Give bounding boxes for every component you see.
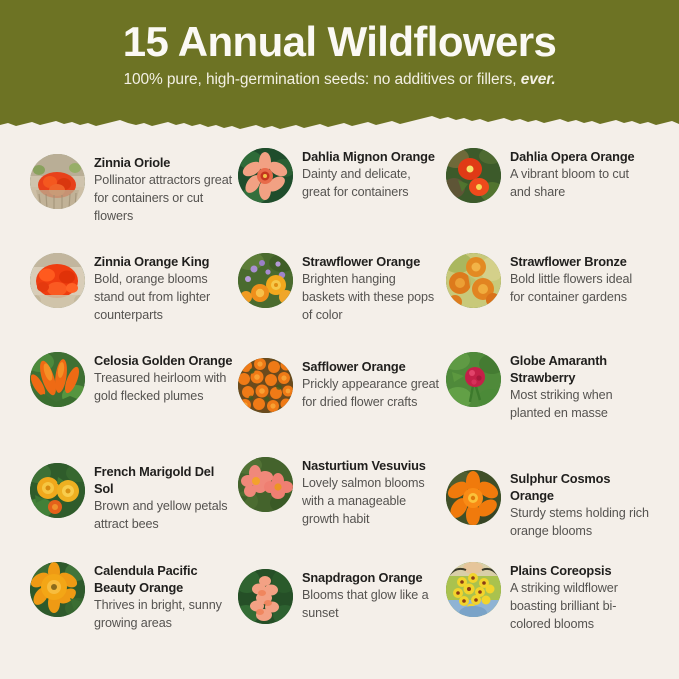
subtitle-main-text: 100% pure, high-germination seeds: no ad… — [123, 71, 520, 88]
dahlia-mignon-orange-thumbnail — [238, 148, 293, 203]
item-title: Dahlia Mignon Orange — [302, 149, 441, 166]
grid-cell: Snapdragon Orange Blooms that glow like … — [238, 562, 441, 657]
flower-grid: Zinnia Oriole Pollinator attractors grea… — [0, 148, 679, 657]
list-item[interactable]: Zinnia Oriole Pollinator attractors grea… — [30, 154, 233, 226]
list-item[interactable]: French Marigold Del Sol Brown and yellow… — [30, 463, 233, 534]
item-title: Nasturtium Vesuvius — [302, 458, 441, 475]
list-item[interactable]: Safflower Orange Prickly appearance grea… — [238, 358, 441, 413]
grid-cell: Plains Coreopsis A striking wildflower b… — [446, 562, 649, 657]
grid-cell: Zinnia Oriole Pollinator attractors grea… — [30, 148, 233, 253]
item-title: Plains Coreopsis — [510, 563, 649, 580]
zinnia-orange-king-thumbnail — [30, 253, 85, 308]
item-text: Snapdragon Orange Blooms that glow like … — [302, 569, 441, 623]
grid-cell: Celosia Golden Orange Treasured heirloom… — [30, 352, 233, 457]
item-text: Dahlia Opera Orange A vibrant bloom to c… — [510, 148, 649, 202]
item-description: Brown and yellow petals attract bees — [94, 498, 233, 534]
item-title: Zinnia Oriole — [94, 155, 233, 172]
item-text: Dahlia Mignon Orange Dainty and delicate… — [302, 148, 441, 202]
item-title: Globe Amaranth Strawberry — [510, 353, 649, 387]
item-text: Globe Amaranth Strawberry Most striking … — [510, 352, 649, 423]
list-item[interactable]: Globe Amaranth Strawberry Most striking … — [446, 352, 649, 423]
item-title: Dahlia Opera Orange — [510, 149, 649, 166]
plains-coreopsis-thumbnail — [446, 562, 501, 617]
list-item[interactable]: Dahlia Mignon Orange Dainty and delicate… — [238, 148, 441, 203]
grid-row: French Marigold Del Sol Brown and yellow… — [0, 457, 679, 562]
item-text: Celosia Golden Orange Treasured heirloom… — [94, 352, 233, 406]
item-description: Prickly appearance great for dried flowe… — [302, 376, 441, 412]
item-title: Celosia Golden Orange — [94, 353, 233, 370]
item-text: Nasturtium Vesuvius Lovely salmon blooms… — [302, 457, 441, 529]
item-description: Bold little flowers ideal for container … — [510, 271, 649, 307]
page-title: 15 Annual Wildflowers — [0, 20, 679, 64]
strawflower-orange-thumbnail — [238, 253, 293, 308]
item-title: French Marigold Del Sol — [94, 464, 233, 498]
item-description: Thrives in bright, sunny growing areas — [94, 597, 233, 633]
globe-amaranth-strawberry-thumbnail — [446, 352, 501, 407]
item-description: Bold, orange blooms stand out from light… — [94, 271, 233, 325]
item-description: Blooms that glow like a sunset — [302, 587, 441, 623]
list-item[interactable]: Zinnia Orange King Bold, orange blooms s… — [30, 253, 233, 325]
item-title: Calendula Pacific Beauty Orange — [94, 563, 233, 597]
grid-cell: Globe Amaranth Strawberry Most striking … — [446, 352, 649, 457]
item-description: Most striking when planted en masse — [510, 387, 649, 423]
snapdragon-orange-thumbnail — [238, 569, 293, 624]
item-text: Strawflower Orange Brighten hanging bask… — [302, 253, 441, 325]
item-text: French Marigold Del Sol Brown and yellow… — [94, 463, 233, 534]
list-item[interactable]: Strawflower Orange Brighten hanging bask… — [238, 253, 441, 325]
item-title: Snapdragon Orange — [302, 570, 441, 587]
grid-cell: Sulphur Cosmos Orange Sturdy stems holdi… — [446, 457, 649, 562]
list-item[interactable]: Calendula Pacific Beauty Orange Thrives … — [30, 562, 233, 633]
grid-cell: Zinnia Orange King Bold, orange blooms s… — [30, 253, 233, 352]
grid-cell: French Marigold Del Sol Brown and yellow… — [30, 457, 233, 562]
item-title: Strawflower Orange — [302, 254, 441, 271]
list-item[interactable]: Nasturtium Vesuvius Lovely salmon blooms… — [238, 457, 441, 529]
item-description: Pollinator attractors great for containe… — [94, 172, 233, 226]
item-text: Sulphur Cosmos Orange Sturdy stems holdi… — [510, 470, 649, 541]
item-text: Safflower Orange Prickly appearance grea… — [302, 358, 441, 412]
celosia-golden-orange-thumbnail — [30, 352, 85, 407]
grid-row: Zinnia Orange King Bold, orange blooms s… — [0, 253, 679, 352]
item-title: Strawflower Bronze — [510, 254, 649, 271]
header-banner: 15 Annual Wildflowers 100% pure, high-ge… — [0, 0, 679, 132]
list-item[interactable]: Sulphur Cosmos Orange Sturdy stems holdi… — [446, 470, 649, 541]
item-description: Brighten hanging baskets with these pops… — [302, 271, 441, 325]
grid-cell: Nasturtium Vesuvius Lovely salmon blooms… — [238, 457, 441, 562]
grid-cell: Strawflower Bronze Bold little flowers i… — [446, 253, 649, 352]
item-text: Zinnia Orange King Bold, orange blooms s… — [94, 253, 233, 325]
item-description: A striking wildflower boasting brilliant… — [510, 580, 649, 634]
torn-paper-edge-decoration — [0, 103, 679, 132]
item-title: Sulphur Cosmos Orange — [510, 471, 649, 505]
page-subtitle: 100% pure, high-germination seeds: no ad… — [0, 71, 679, 89]
nasturtium-vesuvius-thumbnail — [238, 457, 293, 512]
french-marigold-del-sol-thumbnail — [30, 463, 85, 518]
grid-cell: Dahlia Mignon Orange Dainty and delicate… — [238, 148, 441, 253]
grid-cell: Calendula Pacific Beauty Orange Thrives … — [30, 562, 233, 657]
item-description: Lovely salmon blooms with a manageable g… — [302, 475, 441, 529]
list-item[interactable]: Snapdragon Orange Blooms that glow like … — [238, 569, 441, 624]
item-text: Strawflower Bronze Bold little flowers i… — [510, 253, 649, 307]
grid-row: Calendula Pacific Beauty Orange Thrives … — [0, 562, 679, 657]
zinnia-oriole-thumbnail — [30, 154, 85, 209]
grid-cell: Dahlia Opera Orange A vibrant bloom to c… — [446, 148, 649, 253]
item-description: A vibrant bloom to cut and share — [510, 166, 649, 202]
header-text-group: 15 Annual Wildflowers 100% pure, high-ge… — [0, 0, 679, 89]
item-text: Plains Coreopsis A striking wildflower b… — [510, 562, 649, 634]
calendula-pacific-beauty-orange-thumbnail — [30, 562, 85, 617]
subtitle-emphasis-text: ever. — [521, 71, 556, 88]
list-item[interactable]: Strawflower Bronze Bold little flowers i… — [446, 253, 649, 308]
item-text: Calendula Pacific Beauty Orange Thrives … — [94, 562, 233, 633]
safflower-orange-thumbnail — [238, 358, 293, 413]
grid-row: Zinnia Oriole Pollinator attractors grea… — [0, 148, 679, 253]
item-description: Dainty and delicate, great for container… — [302, 166, 441, 202]
grid-cell: Safflower Orange Prickly appearance grea… — [238, 352, 441, 457]
sulphur-cosmos-orange-thumbnail — [446, 470, 501, 525]
strawflower-bronze-thumbnail — [446, 253, 501, 308]
infographic-page: 15 Annual Wildflowers 100% pure, high-ge… — [0, 0, 679, 679]
list-item[interactable]: Dahlia Opera Orange A vibrant bloom to c… — [446, 148, 649, 203]
item-description: Sturdy stems holding rich orange blooms — [510, 505, 649, 541]
item-description: Treasured heirloom with gold flecked plu… — [94, 370, 233, 406]
item-title: Safflower Orange — [302, 359, 441, 376]
item-text: Zinnia Oriole Pollinator attractors grea… — [94, 154, 233, 226]
item-title: Zinnia Orange King — [94, 254, 233, 271]
grid-cell: Strawflower Orange Brighten hanging bask… — [238, 253, 441, 352]
list-item[interactable]: Celosia Golden Orange Treasured heirloom… — [30, 352, 233, 407]
grid-row: Celosia Golden Orange Treasured heirloom… — [0, 352, 679, 457]
dahlia-opera-orange-thumbnail — [446, 148, 501, 203]
list-item[interactable]: Plains Coreopsis A striking wildflower b… — [446, 562, 649, 634]
